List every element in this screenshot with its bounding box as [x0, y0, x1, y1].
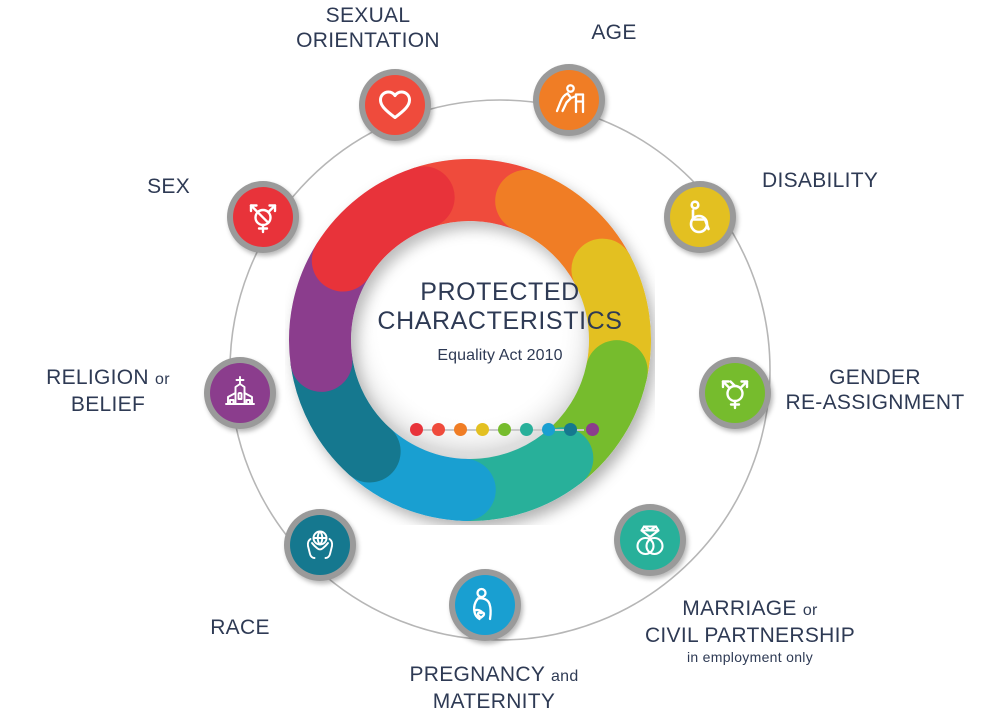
mini-legend-dot — [542, 423, 555, 436]
label-pregnancy-and: and — [551, 668, 579, 685]
badge-religion-belief[interactable] — [204, 357, 276, 429]
badge-age[interactable] — [533, 64, 605, 136]
badge-inner-age — [539, 70, 599, 130]
badge-sex[interactable] — [227, 181, 299, 253]
title-line-1: PROTECTED — [420, 278, 580, 306]
label-marriage-note: in employment only — [620, 648, 880, 667]
gender-symbols-icon — [244, 198, 282, 236]
mini-legend-dot — [410, 423, 423, 436]
mini-legend-dot — [454, 423, 467, 436]
badge-gender-reassignment[interactable] — [699, 357, 771, 429]
church-icon — [221, 374, 259, 412]
label-pregnancy-line1: PREGNANCY — [409, 663, 544, 686]
label-pregnancy-line2: MATERNITY — [433, 690, 555, 713]
label-religion-line1: RELIGION — [46, 366, 149, 389]
label-marriage-or: or — [803, 602, 818, 619]
title-line-2: CHARACTERISTICS — [377, 307, 622, 335]
label-religion-or: or — [155, 371, 170, 388]
badge-inner-disability — [670, 187, 730, 247]
badge-inner-marriage — [620, 510, 680, 570]
label-religion-belief: RELIGION or BELIEF — [28, 365, 188, 417]
label-pregnancy-maternity: PREGNANCY and MATERNITY — [374, 662, 614, 714]
label-sex: SEX — [70, 174, 190, 199]
center-text-block: PROTECTED CHARACTERISTICS Equality Act 2… — [370, 278, 630, 365]
label-gender-reassignment: GENDER RE-ASSIGNMENT — [765, 365, 985, 415]
label-marriage-line1: MARRIAGE — [682, 597, 796, 620]
subtitle: Equality Act 2010 — [370, 347, 630, 365]
badge-inner-sexual-orientation — [365, 75, 425, 135]
label-sexual-orientation-line2: ORIENTATION — [296, 29, 440, 52]
badge-inner-sex — [233, 187, 293, 247]
wedding-rings-icon — [631, 521, 669, 559]
mini-legend-dot — [586, 423, 599, 436]
badge-inner-gender-reassignment — [705, 363, 765, 423]
label-religion-line2: BELIEF — [71, 393, 145, 416]
mini-legend-dot — [476, 423, 489, 436]
label-disability-text: DISABILITY — [762, 169, 878, 192]
mini-legend-dot — [520, 423, 533, 436]
infographic-canvas: PROTECTED CHARACTERISTICS Equality Act 2… — [0, 0, 1000, 718]
badge-disability[interactable] — [664, 181, 736, 253]
badge-inner-race — [290, 515, 350, 575]
transgender-symbol-icon — [716, 374, 754, 412]
label-disability: DISABILITY — [762, 168, 878, 193]
badge-pregnancy-maternity[interactable] — [449, 569, 521, 641]
heart-icon — [377, 87, 413, 123]
label-marriage-civil-partnership: MARRIAGE or CIVIL PARTNERSHIP in employm… — [620, 596, 880, 667]
badge-sexual-orientation[interactable] — [359, 69, 431, 141]
label-race-text: RACE — [210, 616, 270, 639]
pregnant-woman-icon — [466, 586, 504, 624]
badge-inner-religion — [210, 363, 270, 423]
label-gender-line2: RE-ASSIGNMENT — [786, 391, 965, 414]
mini-legend-dot — [564, 423, 577, 436]
mini-legend-dot — [432, 423, 445, 436]
elderly-walker-icon — [550, 81, 588, 119]
label-age: AGE — [524, 20, 704, 45]
label-race: RACE — [165, 615, 315, 640]
label-sexual-orientation-line1: SEXUAL — [326, 4, 411, 27]
wheelchair-icon — [681, 198, 719, 236]
label-marriage-line2: CIVIL PARTNERSHIP — [645, 624, 855, 647]
badge-inner-pregnancy — [455, 575, 515, 635]
label-gender-line1: GENDER — [829, 366, 921, 389]
badge-race[interactable] — [284, 509, 356, 581]
mini-dot-legend — [370, 421, 630, 439]
mini-legend-dot — [498, 423, 511, 436]
hands-globe-icon — [301, 526, 339, 564]
label-sexual-orientation: SEXUAL ORIENTATION — [253, 3, 483, 53]
label-age-text: AGE — [591, 21, 636, 44]
label-sex-text: SEX — [147, 175, 190, 198]
page-title: PROTECTED CHARACTERISTICS — [370, 278, 630, 336]
badge-marriage-civil-partnership[interactable] — [614, 504, 686, 576]
